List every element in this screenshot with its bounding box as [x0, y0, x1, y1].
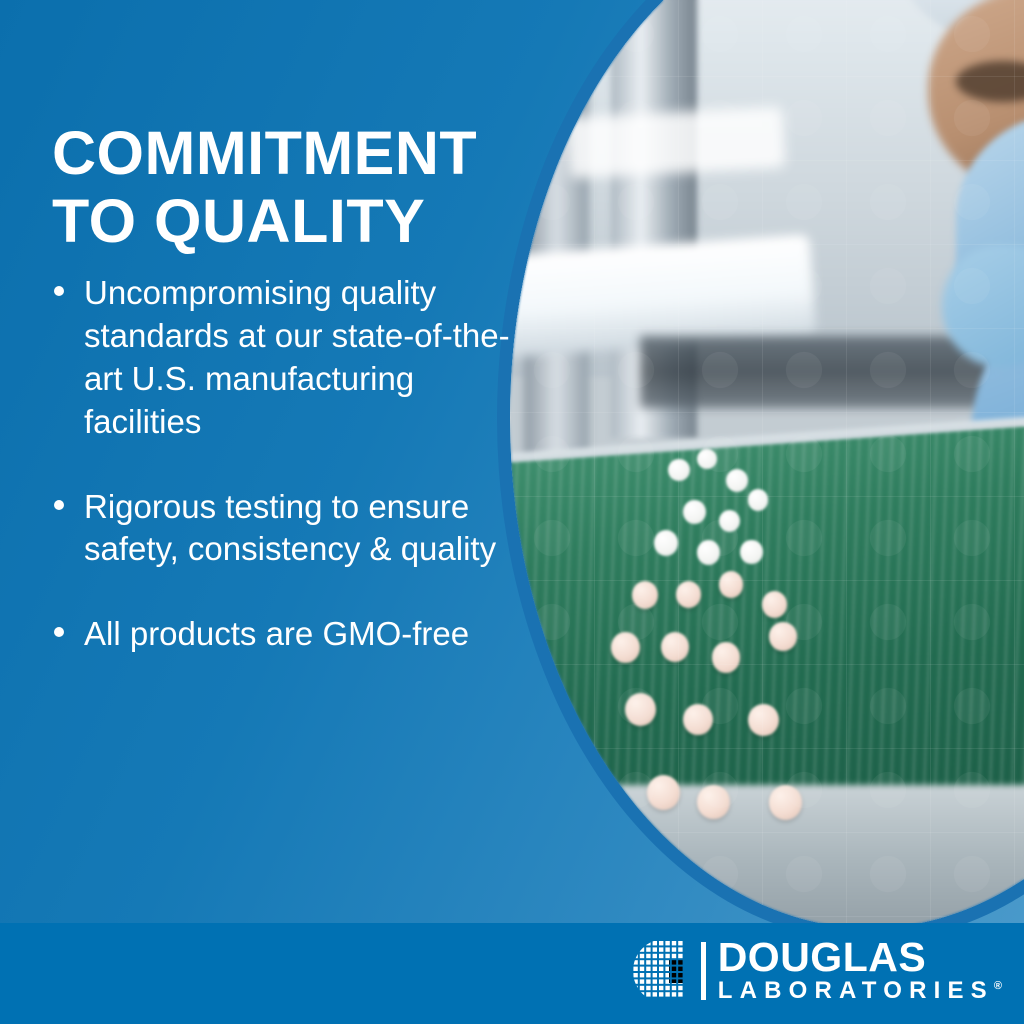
bullet-dot-icon	[54, 286, 64, 296]
commitment-to-quality-poster: COMMITMENT TO QUALITY Uncompromising qua…	[0, 0, 1024, 1024]
logo-subbrand-name: LABORATORIES®	[718, 977, 1002, 1005]
list-item-text: All products are GMO-free	[84, 615, 469, 652]
headline-line-1: COMMITMENT	[52, 119, 477, 187]
watermark-grid-overlay	[510, 0, 1024, 928]
brand-logo: DOUGLAS LABORATORIES®	[625, 937, 1002, 1005]
headline-line-2: TO QUALITY	[52, 187, 572, 255]
photo-panel	[510, 0, 1024, 928]
list-item: All products are GMO-free	[48, 613, 518, 656]
registered-trademark-icon: ®	[994, 980, 1002, 992]
page-title: COMMITMENT TO QUALITY	[52, 119, 572, 256]
bullet-dot-icon	[54, 627, 64, 637]
logo-wordmark: DOUGLAS LABORATORIES®	[718, 937, 1002, 1005]
list-item-text: Rigorous testing to ensure safety, consi…	[84, 488, 496, 568]
footer-bar: DOUGLAS LABORATORIES®	[0, 923, 1024, 1024]
factory-photo	[510, 0, 1024, 928]
logo-divider	[701, 942, 706, 1000]
benefits-list: Uncompromising quality standards at our …	[48, 272, 518, 698]
list-item: Rigorous testing to ensure safety, consi…	[48, 486, 518, 572]
list-item-text: Uncompromising quality standards at our …	[84, 274, 510, 440]
logo-brand-name: DOUGLAS	[718, 937, 1002, 977]
list-item: Uncompromising quality standards at our …	[48, 272, 518, 444]
logo-subbrand-text: LABORATORIES	[718, 977, 994, 1004]
bullet-dot-icon	[54, 500, 64, 510]
douglas-grid-circle-mark	[625, 939, 689, 1003]
